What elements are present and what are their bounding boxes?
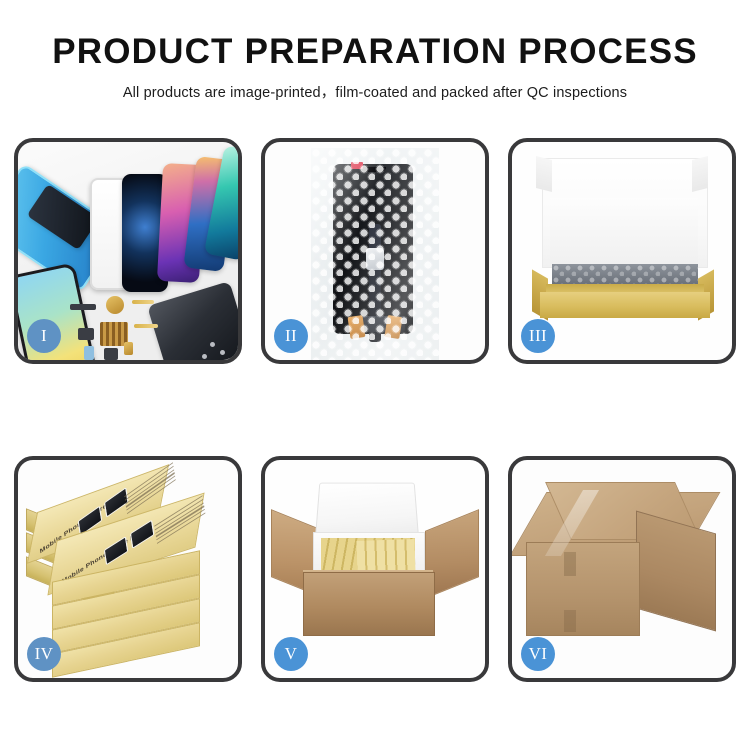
carton-front-face — [526, 542, 640, 636]
process-step-card-3[interactable]: III — [508, 138, 736, 364]
box-tray-front-wall — [540, 292, 710, 318]
carton-side-face — [636, 511, 716, 632]
step-badge-2: II — [274, 319, 308, 353]
box-artwork-screens-2 — [104, 520, 155, 566]
bubble-wrap-bag — [311, 148, 439, 360]
process-step-card-1[interactable]: I — [14, 138, 242, 364]
spare-part-screw-1 — [210, 342, 215, 347]
process-step-card-6[interactable]: VI — [508, 456, 736, 682]
phone-back-housing — [147, 281, 238, 360]
process-step-card-4[interactable]: Mobile Phone Spare Parts Mobile Phone Sp… — [14, 456, 242, 682]
box-lid-flap-right — [692, 156, 708, 192]
page-subtitle: All products are image-printed，film-coat… — [0, 81, 750, 102]
box-spec-lines-2 — [154, 495, 205, 546]
page-title: PRODUCT PREPARATION PROCESS — [0, 32, 750, 71]
box-lid-flap-left — [536, 156, 552, 192]
spare-part-camera — [78, 328, 94, 340]
spare-part-speaker — [106, 296, 124, 314]
process-step-grid: I II — [14, 138, 736, 682]
spare-part-earpiece — [70, 304, 96, 310]
carton-body — [303, 572, 435, 636]
step-badge-1: I — [27, 319, 61, 353]
process-step-card-5[interactable]: V — [261, 456, 489, 682]
spare-part-screw-2 — [220, 350, 225, 355]
spare-part-flex-cable-2 — [134, 324, 158, 328]
step-badge-5: V — [274, 637, 308, 671]
box-artwork-screen — [130, 520, 155, 549]
carton-seam-lower — [564, 610, 576, 632]
carton-seam-upper — [564, 552, 576, 576]
spare-part-sensor — [84, 346, 94, 360]
spare-part-screw-3 — [202, 354, 207, 359]
step-badge-6: VI — [521, 637, 555, 671]
step-badge-4: IV — [27, 637, 61, 671]
step-badge-3: III — [521, 319, 555, 353]
spare-part-battery-connector — [124, 342, 133, 355]
plastic-sheen — [311, 148, 439, 360]
spare-part-flex-cable-1 — [132, 300, 154, 304]
box-artwork-screen — [104, 536, 129, 565]
process-step-card-2[interactable]: II — [261, 138, 489, 364]
spare-part-button — [104, 348, 118, 360]
white-foam-sheet — [550, 198, 698, 264]
page-header: PRODUCT PREPARATION PROCESS All products… — [0, 0, 750, 102]
